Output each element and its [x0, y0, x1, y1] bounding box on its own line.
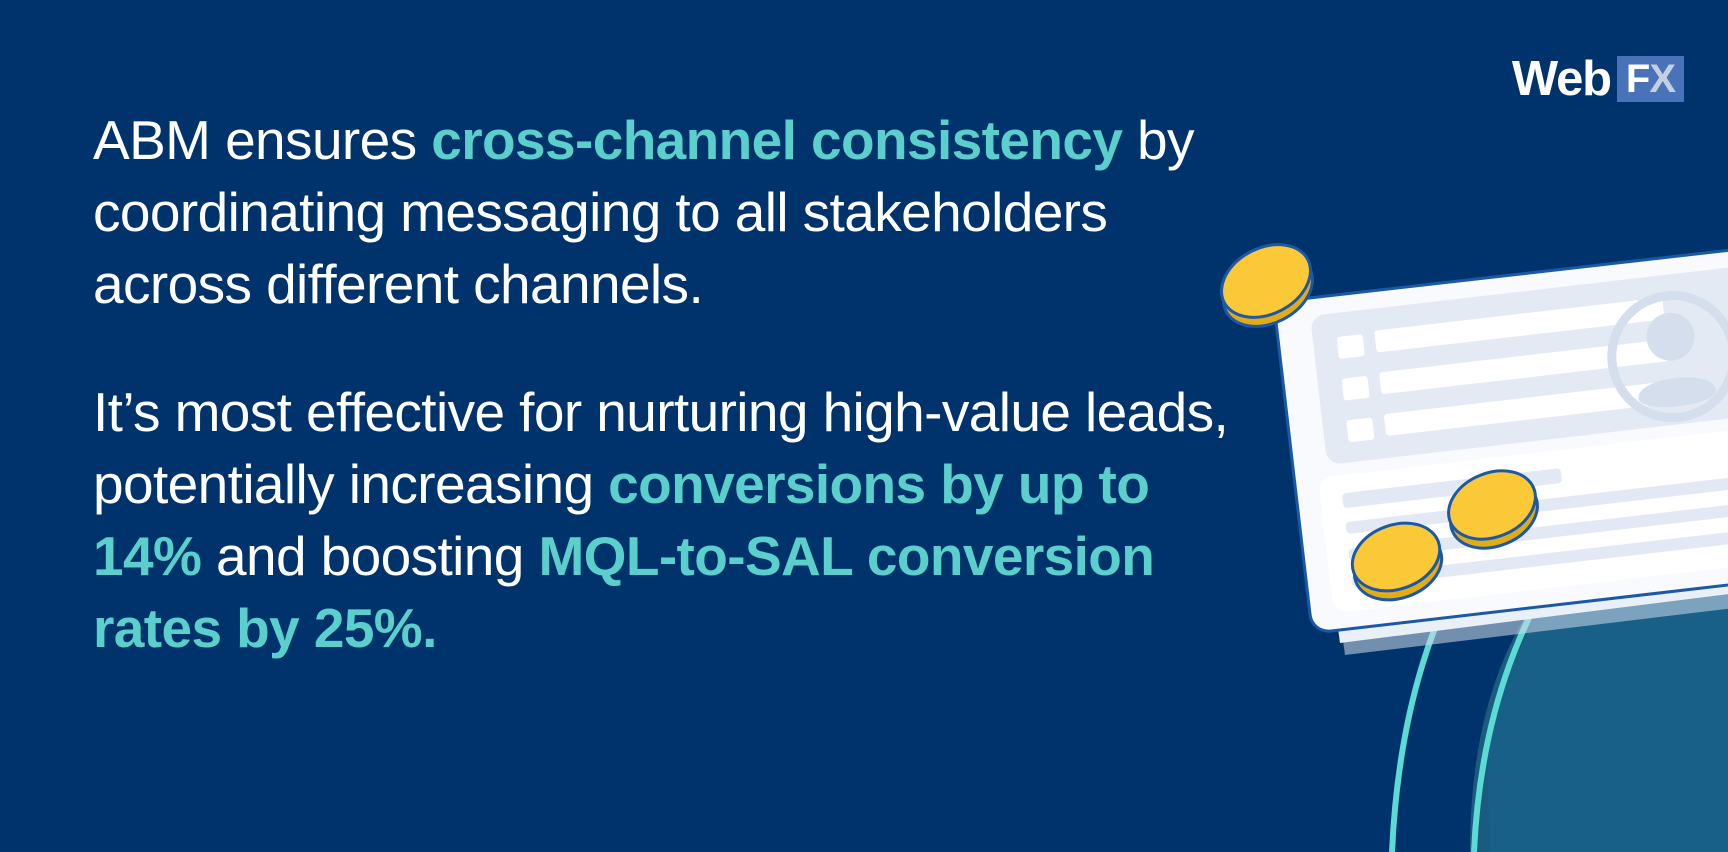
copy-block: ABM ensures cross-channel consistency by… [93, 104, 1233, 664]
logo-x-text: X [1649, 59, 1675, 99]
teal-arc-outer [1392, 500, 1505, 852]
paragraph-1-highlight-1: cross-channel consistency [431, 109, 1122, 171]
coin-bottom-left [1343, 512, 1451, 612]
person-avatar-icon [1605, 289, 1728, 424]
card-list-panel [1310, 262, 1728, 465]
logo-f-text: F [1626, 59, 1649, 99]
contact-card [1276, 241, 1728, 631]
logo-web-text: Web [1512, 55, 1617, 104]
card-backplate [1296, 266, 1728, 655]
infographic-canvas: Web F X ABM ensures cross-channel consis… [0, 0, 1728, 852]
webfx-logo: Web F X [1512, 50, 1684, 108]
paragraph-2: It’s most effective for nurturing high-v… [93, 376, 1233, 664]
paragraph-1-segment-1: ABM ensures [93, 109, 431, 171]
teal-arc-inner [1474, 510, 1600, 852]
paragraph-2-segment-3: and boosting [201, 525, 538, 587]
logo-fx-box: F X [1617, 56, 1684, 102]
teal-blue-disc [1470, 470, 1728, 852]
coin-middle-right [1438, 458, 1547, 560]
paragraph-1: ABM ensures cross-channel consistency by… [93, 104, 1233, 320]
card-text-lines [1318, 418, 1728, 613]
